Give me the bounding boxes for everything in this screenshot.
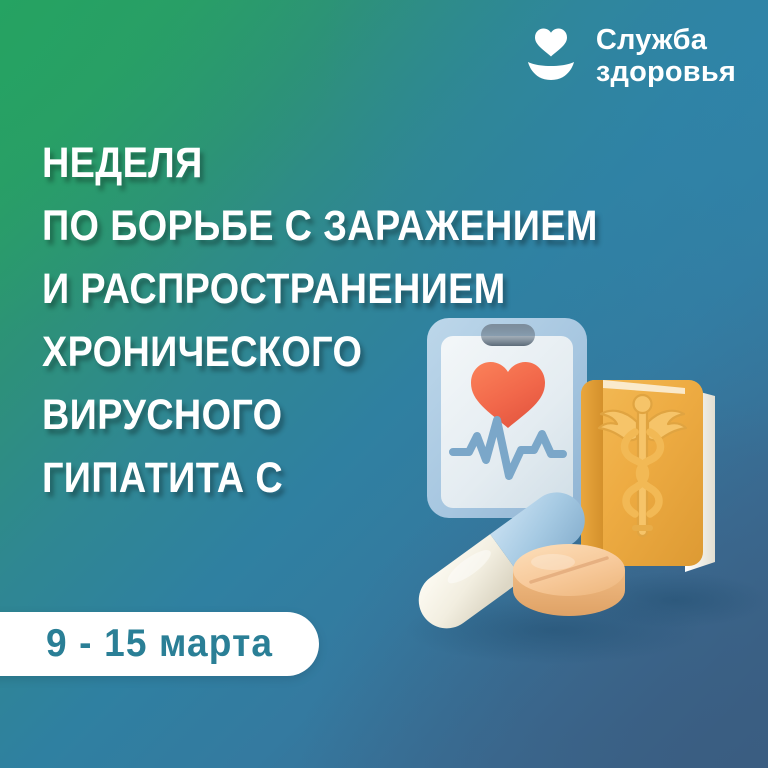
date-badge: 9 - 15 марта <box>0 612 319 676</box>
date-badge-text: 9 - 15 марта <box>46 622 273 666</box>
brand-logo-text: Служба здоровья <box>596 24 736 89</box>
heart-smile-logo-icon <box>522 26 580 86</box>
round-tablet <box>513 544 625 616</box>
medical-book-caduceus <box>581 380 715 572</box>
poster-root: Служба здоровья НЕДЕЛЯ ПО БОРЬБЕ С ЗАРАЖ… <box>0 0 768 768</box>
medical-3d-illustration <box>385 300 765 680</box>
brand-logo-line-2: здоровья <box>596 56 736 88</box>
headline-line-2: ПО БОРЬБЕ С ЗАРАЖЕНИЕМ <box>42 195 535 258</box>
clipboard-with-heart-ecg <box>427 318 587 518</box>
headline-line-1: НЕДЕЛЯ <box>42 132 535 195</box>
brand-logo[interactable]: Служба здоровья <box>522 24 736 89</box>
brand-logo-line-1: Служба <box>596 24 736 56</box>
